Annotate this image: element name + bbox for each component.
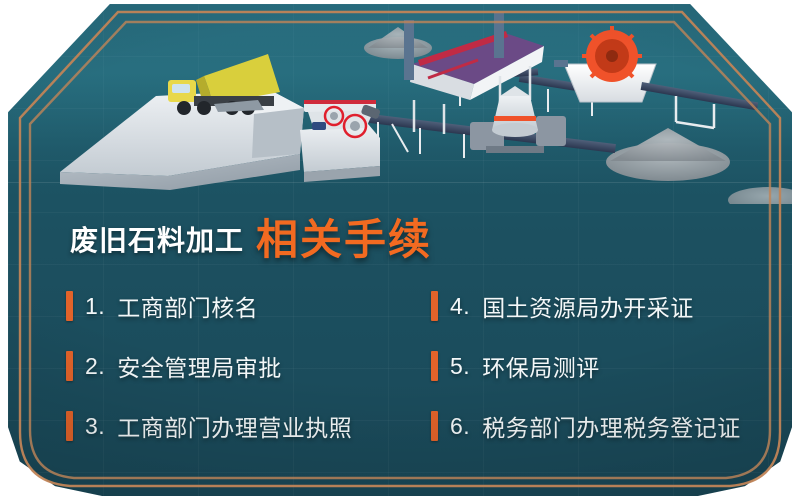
production-line-illustration [8,4,792,204]
gravel-pile [606,128,730,181]
list-item-label: 环保局测评 [482,349,600,383]
list-item-index: 3. [85,413,105,440]
belt-conveyor [641,82,759,128]
list-item-index: 1. [85,293,105,320]
list-item-index: 2. [85,353,105,380]
list-item-index: 5. [450,353,470,380]
orange-bar-marker [431,351,438,381]
orange-bar-marker [431,411,438,441]
dump-truck [168,54,280,115]
gravel-pile [728,187,792,204]
list-item-label: 安全管理局审批 [117,349,282,383]
title-prefix: 废旧石料加工 [70,219,244,259]
list-item[interactable]: 2. 安全管理局审批 [66,349,431,383]
teal-panel: 废旧石料加工 相关手续 1. 工商部门核名 4. 国土资源局办开采证 2. 安全… [8,4,792,496]
list-item-label: 国土资源局办开采证 [482,289,694,323]
title-highlight: 相关手续 [256,206,432,267]
wheel-sand-washer [554,26,656,102]
list-item-label: 工商部门核名 [117,289,258,323]
poster-canvas: 废旧石料加工 相关手续 1. 工商部门核名 4. 国土资源局办开采证 2. 安全… [0,0,800,500]
list-item-index: 6. [450,413,470,440]
list-item-label: 工商部门办理营业执照 [117,409,352,443]
orange-bar-marker [431,291,438,321]
jaw-crusher [300,100,381,182]
list-item-index: 4. [450,293,470,320]
gravel-pile [364,27,432,59]
list-item[interactable]: 6. 税务部门办理税务登记证 [431,409,756,443]
list-item-label: 税务部门办理税务登记证 [482,409,741,443]
cone-crusher [470,86,566,153]
list-item[interactable]: 3. 工商部门办理营业执照 [66,409,431,443]
list-item[interactable]: 4. 国土资源局办开采证 [431,289,756,323]
list-item[interactable]: 5. 环保局测评 [431,349,756,383]
procedure-list: 1. 工商部门核名 4. 国土资源局办开采证 2. 安全管理局审批 5. 环保局… [66,276,756,456]
poster-title: 废旧石料加工 相关手续 [70,202,432,263]
orange-bar-marker [66,351,73,381]
list-item[interactable]: 1. 工商部门核名 [66,289,431,323]
orange-bar-marker [66,291,73,321]
orange-bar-marker [66,411,73,441]
